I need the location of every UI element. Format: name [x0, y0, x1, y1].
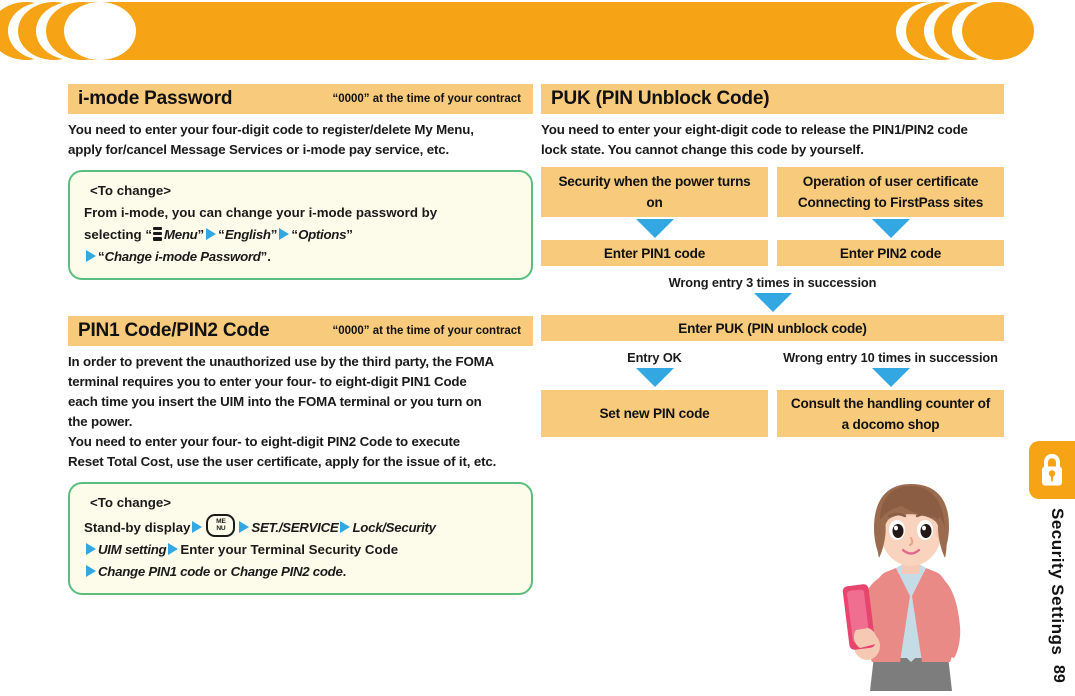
arrow-down-icon: [872, 219, 910, 238]
imode-password-body: You need to enter your four-digit code t…: [68, 120, 533, 160]
or-label: or: [210, 564, 231, 579]
arrow-down-icon: [636, 368, 674, 387]
arrow-right-icon: [86, 250, 96, 262]
menu-label: Menu: [164, 227, 198, 242]
quote-close: ”: [271, 227, 278, 242]
flow-row-arrows-1: [541, 219, 1004, 238]
to-change-heading: <To change>: [84, 492, 517, 514]
set-service-label: SET./SERVICE: [251, 520, 338, 535]
left-column: i-mode Password “0000” at the time of yo…: [68, 84, 533, 595]
arrow-right-icon: [192, 521, 202, 533]
arrow-right-icon: [206, 228, 216, 240]
flow-row-second: Enter PIN1 code Enter PIN2 code: [541, 240, 1004, 266]
flow-row-end: Set new PIN code Consult the handling co…: [541, 390, 1004, 437]
quote-open: “: [98, 249, 105, 264]
terminal-security-code-label: Enter your Terminal Security Code: [180, 542, 398, 557]
body-line: terminal requires you to enter your four…: [68, 372, 533, 392]
puk-body: You need to enter your eight-digit code …: [541, 120, 1004, 160]
flow-box-consult-docomo: Consult the handling counter of a docomo…: [777, 390, 1004, 437]
arrow-right-icon: [239, 521, 249, 533]
arrow-down-icon: [872, 368, 910, 387]
quote-close: ”: [198, 227, 205, 242]
quote-open: “: [218, 227, 225, 242]
select-prefix: selecting “: [84, 227, 152, 242]
flow-box-right-start: Operation of user certificate Connecting…: [777, 167, 1004, 217]
side-tab-label: Security Settings: [1037, 508, 1067, 678]
change-pin1-label: Change PIN1 code: [98, 564, 210, 579]
change-pin2-label: Change PIN2 code: [231, 564, 343, 579]
lock-security-label: Lock/Security: [352, 520, 435, 535]
body-line: You need to enter your eight-digit code …: [541, 120, 1004, 140]
body-line: lock state. You cannot change this code …: [541, 140, 1004, 160]
to-change-line-3: “Change i-mode Password”.: [84, 246, 517, 268]
pin-codes-body: In order to prevent the unauthorized use…: [68, 352, 533, 472]
arrow-down-icon: [636, 219, 674, 238]
to-change-line-3: Change PIN1 code or Change PIN2 code.: [84, 561, 517, 583]
standby-display-label: Stand-by display: [84, 520, 190, 535]
arrow-right-icon: [279, 228, 289, 240]
side-tab-security: [1029, 441, 1075, 499]
flow-box-left-start: Security when the power turns on: [541, 167, 768, 217]
body-line: the power.: [68, 412, 533, 432]
flow-arrow-right-cell: [777, 219, 1004, 238]
banner-left-gap-3: [64, 2, 136, 60]
section-header-pin-codes: PIN1 Code/PIN2 Code “0000” at the time o…: [68, 316, 533, 346]
body-line: You need to enter your four-digit code t…: [68, 120, 533, 140]
flow-caption-entry-ok: Entry OK: [541, 350, 768, 365]
body-line: You need to enter your four- to eight-di…: [68, 432, 533, 452]
english-label: English: [225, 227, 271, 242]
section-note: “0000” at the time of your contract: [332, 325, 523, 337]
section-header-imode-password: i-mode Password “0000” at the time of yo…: [68, 84, 533, 114]
arrow-down-icon: [754, 293, 792, 312]
page-number: 89: [1037, 665, 1067, 683]
banner-right-blob-3: [962, 2, 1034, 60]
section-title: PIN1 Code/PIN2 Code: [78, 320, 270, 342]
arrow-right-icon: [168, 543, 178, 555]
flow-box-enter-pin1: Enter PIN1 code: [541, 240, 768, 266]
options-label: Options: [298, 227, 346, 242]
to-change-heading: <To change>: [84, 180, 517, 202]
to-change-line-1: Stand-by displayMENUSET./SERVICELock/Sec…: [84, 514, 517, 539]
flow-arrow-right-cell-2: [777, 368, 1004, 387]
section-title: i-mode Password: [78, 88, 232, 110]
flow-caption-wrong-10: Wrong entry 10 times in succession: [777, 350, 1004, 365]
right-column: PUK (PIN Unblock Code) You need to enter…: [541, 84, 1004, 437]
flow-arrow-left-cell-2: [541, 368, 768, 387]
to-change-line-1: From i-mode, you can change your i-mode …: [84, 202, 517, 224]
flow-row-captions-2: Entry OK Wrong entry 10 times in success…: [541, 350, 1004, 365]
section-title: PUK (PIN Unblock Code): [551, 88, 769, 110]
flow-box-enter-pin2: Enter PIN2 code: [777, 240, 1004, 266]
arrow-right-icon: [86, 565, 96, 577]
body-line: In order to prevent the unauthorized use…: [68, 352, 533, 372]
flow-box-enter-puk: Enter PUK (PIN unblock code): [541, 315, 1004, 341]
body-line: each time you insert the UIM into the FO…: [68, 392, 533, 412]
arrow-right-icon: [86, 543, 96, 555]
quote-close: ”: [346, 227, 353, 242]
flow-caption-wrong-3: Wrong entry 3 times in succession: [541, 275, 1004, 290]
to-change-line-2: UIM settingEnter your Terminal Security …: [84, 539, 517, 561]
woman-with-phone-illustration: [826, 468, 996, 691]
body-line: Reset Total Cost, use the user certifica…: [68, 452, 533, 472]
body-line: apply for/cancel Message Services or i-m…: [68, 140, 533, 160]
menu-key-icon: MENU: [206, 514, 235, 537]
quote-close: ”.: [261, 249, 271, 264]
flow-box-set-new-pin: Set new PIN code: [541, 390, 768, 437]
flow-arrow-left-cell: [541, 219, 768, 238]
banner-main-bar: [60, 2, 960, 60]
flow-row-start: Security when the power turns on Operati…: [541, 167, 1004, 217]
period: .: [343, 564, 347, 579]
to-change-box-pin: <To change> Stand-by displayMENUSET./SER…: [68, 482, 533, 595]
section-note: “0000” at the time of your contract: [332, 93, 523, 105]
flow-arrow-center-cell: [541, 293, 1004, 312]
change-imode-password-label: Change i-mode Password: [105, 249, 261, 264]
to-change-line-2: selecting “Menu”“English”“Options”: [84, 224, 517, 246]
arrow-right-icon: [340, 521, 350, 533]
imode-menu-icon: [153, 227, 162, 241]
top-decorative-banner: [0, 0, 1075, 62]
to-change-box-imode: <To change> From i-mode, you can change …: [68, 170, 533, 280]
lock-icon: [1041, 453, 1063, 487]
uim-setting-label: UIM setting: [98, 542, 166, 557]
puk-flowchart: Security when the power turns on Operati…: [541, 167, 1004, 437]
flow-row-arrows-2: [541, 368, 1004, 387]
section-header-puk: PUK (PIN Unblock Code): [541, 84, 1004, 114]
